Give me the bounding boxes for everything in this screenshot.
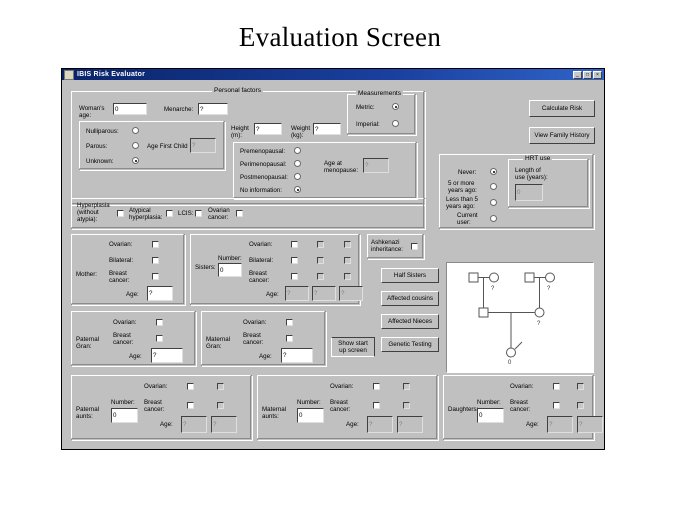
lcis-checkbox[interactable] bbox=[195, 210, 202, 217]
no-information-radio[interactable] bbox=[294, 186, 301, 193]
maternal-aunts-number-label: Number: bbox=[297, 399, 321, 406]
sisters-bilateral-label: Bilateral: bbox=[249, 257, 273, 264]
maternal-aunts-breast-cancer-label: Breast cancer: bbox=[330, 399, 356, 413]
sisters-breast-cancer-checkbox-1[interactable] bbox=[291, 273, 298, 280]
half-sisters-button[interactable]: Half Sisters bbox=[381, 268, 439, 283]
premenopausal-radio[interactable] bbox=[294, 147, 301, 154]
daughters-age-input-2[interactable] bbox=[577, 416, 603, 433]
nulliparous-label: Nulliparous: bbox=[86, 128, 119, 135]
daughters-ovarian-label: Ovarian: bbox=[510, 383, 533, 390]
maternal-aunts-ovarian-checkbox-1[interactable] bbox=[373, 383, 380, 390]
age-first-child-input[interactable] bbox=[190, 138, 216, 153]
ashkenazi-label: Ashkenazi inheritance: bbox=[371, 239, 411, 253]
pedigree-diagram: ? ? ? 0 bbox=[447, 263, 593, 372]
maternal-gran-ovarian-label: Ovarian: bbox=[243, 319, 266, 326]
paternal-gran-breast-cancer-checkbox[interactable] bbox=[156, 335, 163, 342]
ovarian-cancer-label: Ovarian cancer: bbox=[208, 207, 236, 221]
postmenopausal-radio[interactable] bbox=[294, 173, 301, 180]
daughters-breast-cancer-checkbox-2[interactable] bbox=[577, 402, 584, 409]
maternal-gran-breast-cancer-checkbox[interactable] bbox=[286, 335, 293, 342]
no-information-label: No information: bbox=[240, 187, 282, 194]
paternal-aunts-ovarian-checkbox-1[interactable] bbox=[187, 383, 194, 390]
metric-label: Metric: bbox=[356, 104, 375, 111]
womans-age-input[interactable] bbox=[113, 103, 147, 115]
hyperplasia-label: Hyperplasia (without atypia): bbox=[77, 202, 117, 223]
hrt-five-or-more-label: 5 or more years ago: bbox=[448, 180, 490, 194]
hrt-less-than-five-label: Less than 5 years ago: bbox=[446, 196, 490, 210]
metric-radio[interactable] bbox=[392, 103, 399, 110]
weight-input[interactable] bbox=[313, 123, 341, 135]
hrt-current-user-radio[interactable] bbox=[490, 215, 497, 222]
mother-ovarian-checkbox[interactable] bbox=[152, 241, 159, 248]
maternal-aunts-ovarian-checkbox-2[interactable] bbox=[403, 383, 410, 390]
hrt-legend: HRT use bbox=[523, 155, 552, 162]
pedigree-label-grandmother-pat: ? bbox=[491, 286, 495, 292]
sisters-age-input-2[interactable] bbox=[312, 286, 336, 301]
maternal-aunts-breast-cancer-checkbox-1[interactable] bbox=[373, 402, 380, 409]
app-icon bbox=[64, 70, 74, 80]
sisters-ovarian-checkbox-1[interactable] bbox=[291, 241, 298, 248]
mother-label: Mother: bbox=[76, 271, 97, 278]
conditions-group bbox=[71, 198, 426, 230]
paternal-aunts-age-input-2[interactable] bbox=[211, 416, 237, 433]
window-controls: _ □ × bbox=[573, 71, 602, 79]
mother-ovarian-label: Ovarian: bbox=[109, 241, 132, 248]
paternal-aunts-ovarian-label: Ovarian: bbox=[144, 383, 167, 390]
affected-nieces-button[interactable]: Affected Nieces bbox=[381, 314, 439, 329]
atypical-hyperplasia-checkbox[interactable] bbox=[166, 210, 173, 217]
maternal-gran-ovarian-checkbox[interactable] bbox=[286, 319, 293, 326]
weight-label: Weight (kg): bbox=[291, 125, 313, 139]
measurements-group: Measurements bbox=[347, 94, 417, 136]
close-icon[interactable]: × bbox=[593, 71, 602, 79]
mother-age-input[interactable] bbox=[147, 286, 173, 301]
paternal-aunts-number-input[interactable] bbox=[111, 408, 138, 423]
daughters-ovarian-checkbox-1[interactable] bbox=[553, 383, 560, 390]
paternal-gran-age-input[interactable] bbox=[151, 348, 183, 363]
maternal-aunts-number-input[interactable] bbox=[297, 408, 324, 423]
mother-age-label: Age: bbox=[126, 291, 139, 298]
application-window: IBIS Risk Evaluator _ □ × Personal facto… bbox=[61, 68, 605, 450]
lcis-label: LCIS: bbox=[178, 210, 193, 217]
hrt-length-label: Length of use (years): bbox=[515, 167, 559, 181]
sisters-bilateral-checkbox-3[interactable] bbox=[344, 257, 351, 264]
paternal-gran-ovarian-checkbox[interactable] bbox=[156, 319, 163, 326]
menarche-label: Menarche: bbox=[164, 106, 193, 113]
hrt-length-input[interactable] bbox=[515, 184, 543, 201]
age-at-menopause-input[interactable] bbox=[363, 158, 389, 173]
postmenopausal-label: Postmenopausal: bbox=[240, 174, 288, 181]
paternal-aunts-age-input-1[interactable] bbox=[181, 416, 207, 433]
window-client-area: Personal factors Woman's age: Menarche: … bbox=[63, 81, 603, 448]
maternal-aunts-age-input-1[interactable] bbox=[367, 416, 393, 433]
maternal-gran-label: Maternal Gran: bbox=[206, 336, 240, 350]
sisters-breast-cancer-checkbox-2[interactable] bbox=[317, 273, 324, 280]
genetic-testing-button[interactable]: Genetic Testing bbox=[381, 337, 439, 352]
maternal-aunts-age-input-2[interactable] bbox=[397, 416, 423, 433]
sisters-bilateral-checkbox-1[interactable] bbox=[291, 257, 298, 264]
daughters-number-input[interactable] bbox=[477, 408, 504, 423]
pedigree-label-grandmother-mat: ? bbox=[547, 286, 551, 292]
height-input[interactable] bbox=[254, 123, 282, 135]
maternal-gran-age-label: Age: bbox=[259, 353, 272, 360]
daughters-breast-cancer-label: Breast cancer: bbox=[510, 399, 536, 413]
mother-bilateral-checkbox[interactable] bbox=[152, 257, 159, 264]
ashkenazi-checkbox[interactable] bbox=[411, 243, 418, 250]
daughters-age-input-1[interactable] bbox=[547, 416, 573, 433]
pedigree-panel[interactable]: ? ? ? 0 bbox=[446, 262, 594, 373]
mother-breast-cancer-checkbox[interactable] bbox=[152, 273, 159, 280]
perimenopausal-radio[interactable] bbox=[294, 160, 301, 167]
view-family-history-button[interactable]: View Family History bbox=[529, 127, 595, 144]
maximize-icon[interactable]: □ bbox=[583, 71, 592, 79]
perimenopausal-label: Perimenopausal: bbox=[240, 161, 286, 168]
unknown-parity-radio[interactable] bbox=[132, 157, 139, 164]
hrt-current-user-label: Current user: bbox=[457, 212, 491, 226]
ovarian-cancer-checkbox[interactable] bbox=[236, 210, 243, 217]
daughters-label: Daughters: bbox=[448, 406, 478, 413]
sisters-label: Sisters: bbox=[195, 264, 216, 271]
paternal-gran-breast-cancer-label: Breast cancer: bbox=[113, 332, 139, 346]
daughters-number-label: Number: bbox=[477, 399, 501, 406]
womans-age-label: Woman's age: bbox=[79, 105, 113, 119]
mother-breast-cancer-label: Breast cancer: bbox=[109, 270, 135, 284]
hrt-never-radio[interactable] bbox=[490, 168, 497, 175]
paternal-aunts-age-label: Age: bbox=[160, 421, 173, 428]
personal-factors-legend: Personal factors bbox=[212, 87, 263, 94]
paternal-aunts-number-label: Number: bbox=[111, 399, 135, 406]
maternal-aunts-label: Maternal aunts: bbox=[262, 406, 296, 420]
page-title: Evaluation Screen bbox=[0, 22, 680, 53]
sisters-age-input-1[interactable] bbox=[285, 286, 309, 301]
paternal-aunts-breast-cancer-checkbox-1[interactable] bbox=[187, 402, 194, 409]
sisters-ovarian-checkbox-3[interactable] bbox=[344, 241, 351, 248]
daughters-age-label: Age: bbox=[526, 421, 539, 428]
maternal-gran-breast-cancer-label: Breast cancer: bbox=[243, 332, 269, 346]
show-start-up-screen-button[interactable]: Show start up screen bbox=[331, 337, 375, 357]
sisters-breast-cancer-label: Breast cancer: bbox=[249, 270, 275, 284]
paternal-aunts-breast-cancer-checkbox-2[interactable] bbox=[217, 402, 224, 409]
mother-bilateral-label: Bilateral: bbox=[109, 257, 133, 264]
nulliparous-radio[interactable] bbox=[132, 127, 139, 134]
paternal-aunts-label: Paternal aunts: bbox=[76, 406, 110, 420]
sisters-ovarian-label: Ovarian: bbox=[249, 241, 272, 248]
slide-root: Evaluation Screen IBIS Risk Evaluator _ … bbox=[0, 0, 680, 510]
window-title: IBIS Risk Evaluator bbox=[77, 71, 145, 78]
affected-cousins-button[interactable]: Affected cousins bbox=[381, 291, 439, 306]
imperial-radio[interactable] bbox=[392, 120, 399, 127]
age-first-child-label: Age First Child bbox=[147, 143, 188, 150]
hrt-less-than-five-radio[interactable] bbox=[490, 199, 497, 206]
maternal-aunts-age-label: Age: bbox=[346, 421, 359, 428]
paternal-aunts-breast-cancer-label: Breast cancer: bbox=[144, 399, 170, 413]
maternal-aunts-ovarian-label: Ovarian: bbox=[330, 383, 353, 390]
menarche-input[interactable] bbox=[198, 103, 228, 115]
height-label: Height (m): bbox=[231, 125, 253, 139]
imperial-label: Imperial: bbox=[356, 121, 380, 128]
sisters-age-label: Age: bbox=[266, 291, 279, 298]
parous-radio[interactable] bbox=[132, 142, 139, 149]
measurements-legend: Measurements bbox=[356, 90, 403, 97]
age-at-menopause-label: Age at menopause: bbox=[324, 160, 360, 174]
minimize-icon[interactable]: _ bbox=[573, 71, 582, 79]
pedigree-label-mother: ? bbox=[537, 321, 541, 327]
paternal-gran-label: Paternal Gran: bbox=[76, 336, 110, 350]
maternal-gran-age-input[interactable] bbox=[281, 348, 313, 363]
sisters-number-input[interactable] bbox=[218, 263, 242, 277]
hyperplasia-checkbox[interactable] bbox=[117, 210, 124, 217]
hrt-five-or-more-radio[interactable] bbox=[490, 183, 497, 190]
calculate-risk-button[interactable]: Calculate Risk bbox=[529, 100, 595, 117]
parous-label: Parous: bbox=[86, 143, 107, 150]
paternal-aunts-ovarian-checkbox-2[interactable] bbox=[217, 383, 224, 390]
title-bar: IBIS Risk Evaluator _ □ × bbox=[62, 69, 604, 80]
pedigree-label-proband: 0 bbox=[508, 360, 512, 366]
atypical-hyperplasia-label: Atypical hyperplasia: bbox=[129, 207, 165, 221]
sisters-age-input-3[interactable] bbox=[339, 286, 363, 301]
paternal-gran-age-label: Age: bbox=[129, 353, 142, 360]
premenopausal-label: Premenopausal: bbox=[240, 148, 285, 155]
hrt-never-label: Never: bbox=[458, 169, 476, 176]
daughters-breast-cancer-checkbox-1[interactable] bbox=[553, 402, 560, 409]
daughters-ovarian-checkbox-2[interactable] bbox=[577, 383, 584, 390]
maternal-aunts-breast-cancer-checkbox-2[interactable] bbox=[403, 402, 410, 409]
paternal-gran-ovarian-label: Ovarian: bbox=[113, 319, 136, 326]
sisters-ovarian-checkbox-2[interactable] bbox=[317, 241, 324, 248]
sisters-number-label: Number: bbox=[218, 255, 242, 262]
unknown-parity-label: Unknown: bbox=[86, 158, 114, 165]
sisters-breast-cancer-checkbox-3[interactable] bbox=[344, 273, 351, 280]
sisters-bilateral-checkbox-2[interactable] bbox=[317, 257, 324, 264]
